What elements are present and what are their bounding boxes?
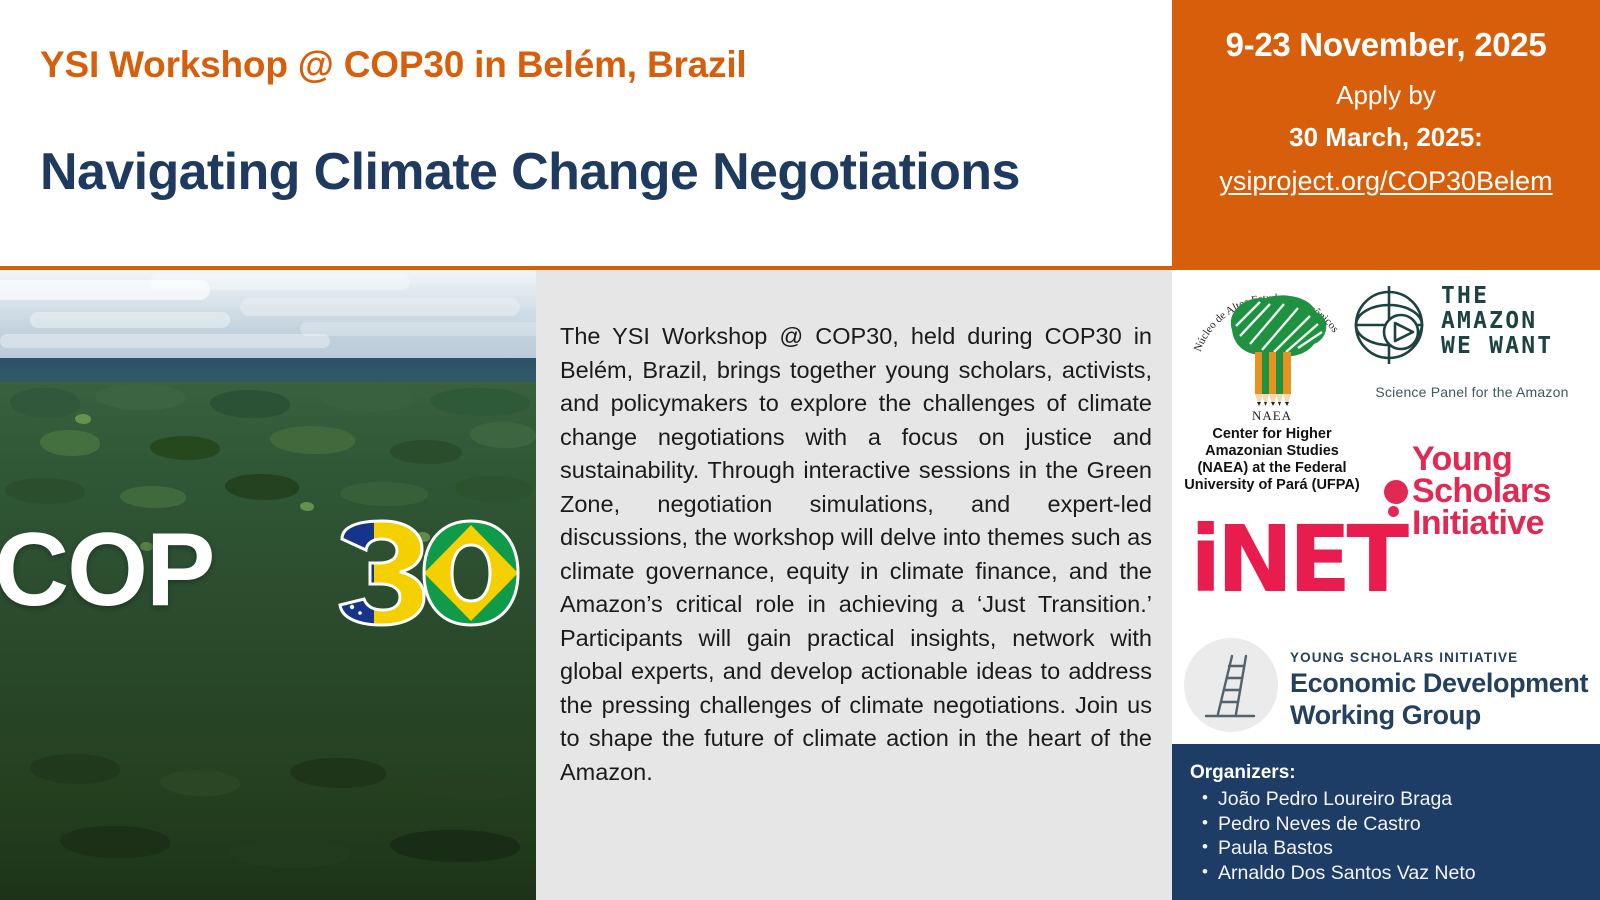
ladder-icon <box>1202 652 1262 720</box>
cop-letters: COP <box>0 515 213 625</box>
poster-root: YSI Workshop @ COP30 in Belém, Brazil Na… <box>0 0 1600 900</box>
naea-abbreviation: NAEA <box>1192 408 1352 424</box>
science-panel-subtitle: Science Panel for the Amazon <box>1347 384 1597 400</box>
rainforest-photo: COP <box>0 270 536 900</box>
ysi-dot-large-icon <box>1384 480 1408 504</box>
cop30-digit-3-icon <box>332 519 428 627</box>
organizers-panel: Organizers: João Pedro Loureiro Braga Pe… <box>1172 744 1600 900</box>
cloud-shape <box>300 322 536 336</box>
cop30-wordmark: COP <box>0 515 536 635</box>
event-dates: 9-23 November, 2025 <box>1172 26 1600 65</box>
application-deadline: 30 March, 2025: <box>1172 123 1600 152</box>
organizer-item: João Pedro Loureiro Braga <box>1190 787 1600 812</box>
cloud-shape <box>30 312 230 328</box>
abstract-text: The YSI Workshop @ COP30, held during CO… <box>560 320 1152 789</box>
apply-by-label: Apply by <box>1172 81 1600 110</box>
organizers-list: João Pedro Loureiro Braga Pedro Neves de… <box>1190 787 1600 885</box>
partner-logos-panel: Núcleo de Altos Estudos Amazônicos <box>1172 270 1600 744</box>
forest-canopy <box>0 382 536 900</box>
edwg-line-1: Economic Development <box>1290 668 1588 699</box>
page-title: Navigating Climate Change Negotiations <box>40 142 1020 202</box>
header-band: YSI Workshop @ COP30 in Belém, Brazil Na… <box>0 0 1600 266</box>
sky-region <box>0 270 536 365</box>
logo-young-scholars-initiative: Young Scholars Initiative <box>1384 440 1594 545</box>
ysi-line-3: Initiative <box>1412 504 1544 543</box>
awt-line-1: THE <box>1441 284 1553 309</box>
naea-caption: Center for Higher Amazonian Studies (NAE… <box>1182 426 1362 494</box>
abstract-panel: The YSI Workshop @ COP30, held during CO… <box>536 270 1172 900</box>
cloud-shape <box>150 274 410 290</box>
cloud-shape <box>240 298 520 316</box>
awt-line-2: AMAZON <box>1441 309 1553 334</box>
organizer-item: Arnaldo Dos Santos Vaz Neto <box>1190 861 1600 886</box>
amazon-we-want-wordmark: THE AMAZON WE WANT <box>1441 284 1553 359</box>
awt-line-3: WE WANT <box>1441 334 1553 359</box>
naea-tree-icon <box>1214 290 1334 412</box>
edwg-kicker: YOUNG SCHOLARS INITIATIVE <box>1290 650 1518 665</box>
amazon-globe-play-icon <box>1349 280 1435 370</box>
organizer-item: Pedro Neves de Castro <box>1190 812 1600 837</box>
cloud-shape <box>0 334 330 348</box>
application-link[interactable]: ysiproject.org/COP30Belem <box>1172 166 1600 197</box>
logo-amazon-we-want: THE AMAZON WE WANT Science Panel for the… <box>1347 276 1597 411</box>
logo-economic-development-working-group: YOUNG SCHOLARS INITIATIVE Economic Devel… <box>1184 638 1596 738</box>
edwg-line-2: Working Group <box>1290 700 1481 731</box>
organizer-item: Paula Bastos <box>1190 836 1600 861</box>
logo-naea: Núcleo de Altos Estudos Amazônicos <box>1192 278 1352 490</box>
workshop-kicker: YSI Workshop @ COP30 in Belém, Brazil <box>40 44 747 86</box>
date-panel: 9-23 November, 2025 Apply by 30 March, 2… <box>1172 0 1600 266</box>
logo-inet: iNET <box>1190 510 1400 615</box>
header-text-area: YSI Workshop @ COP30 in Belém, Brazil Na… <box>0 0 1172 266</box>
cop30-digit-0-icon <box>418 519 524 627</box>
organizers-title: Organizers: <box>1190 762 1600 784</box>
